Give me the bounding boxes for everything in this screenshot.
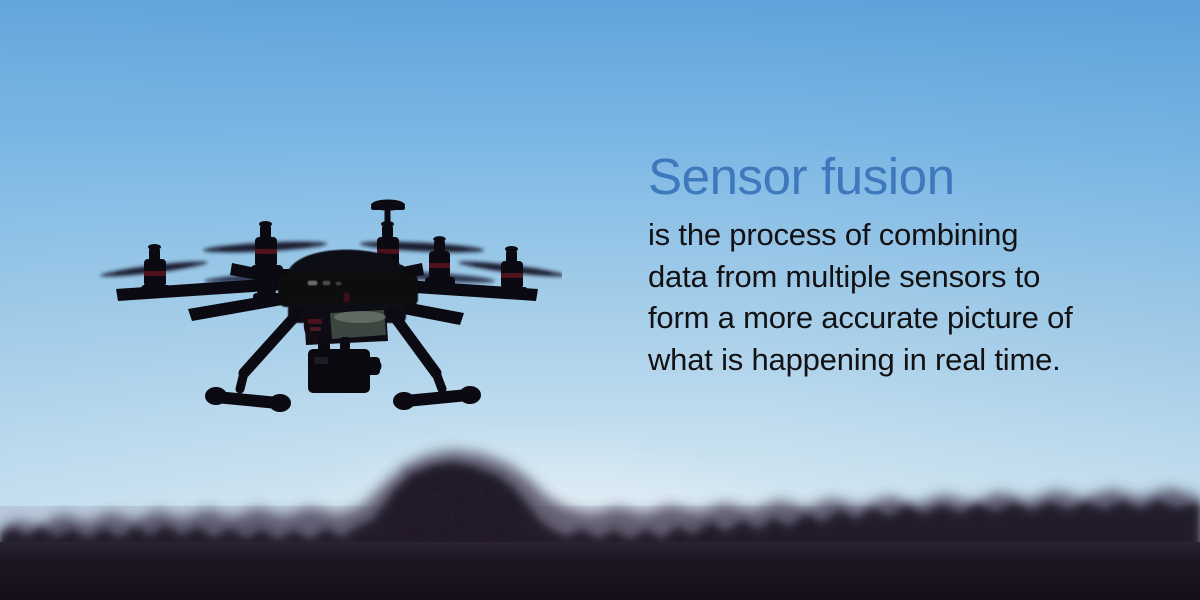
- drone-silhouette: [92, 185, 562, 425]
- gimbal-camera: [308, 337, 382, 393]
- ground-mass: [0, 542, 1200, 600]
- treeline-svg: [0, 410, 1200, 600]
- body-line-2: data from multiple sensors to: [648, 256, 1148, 298]
- headline: Sensor fusion: [648, 148, 1148, 206]
- banner-scene: Sensor fusion is the process of combinin…: [0, 0, 1200, 600]
- body-paragraph: is the process of combining data from mu…: [648, 214, 1148, 380]
- treeline-horizon: [0, 410, 1200, 600]
- body-line-1: is the process of combining: [648, 214, 1148, 256]
- text-block: Sensor fusion is the process of combinin…: [648, 148, 1148, 380]
- body-line-3: form a more accurate picture of: [648, 297, 1148, 339]
- body-line-4: what is happening in real time.: [648, 339, 1148, 381]
- drone-svg: [92, 185, 562, 425]
